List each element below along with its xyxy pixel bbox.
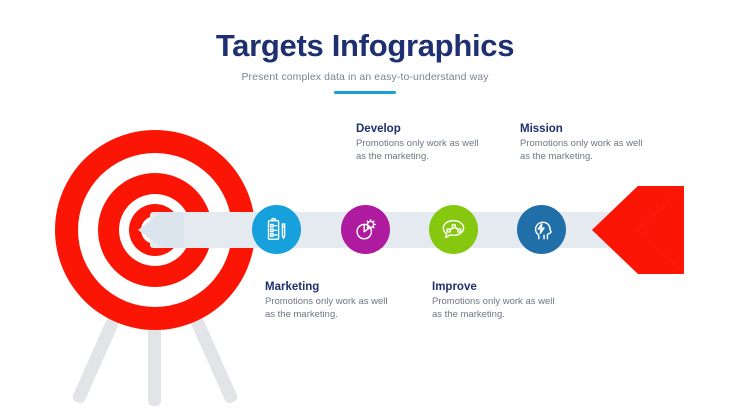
arrow-head-icon xyxy=(138,206,184,254)
arrow-shaft xyxy=(150,212,665,248)
info-block-marketing: Marketing Promotions only work as well a… xyxy=(265,281,389,322)
info-block-improve: Improve Promotions only work as well as … xyxy=(432,281,556,322)
gear-analysis-icon xyxy=(352,216,379,243)
chat-network-icon xyxy=(440,216,467,243)
info-body-improve: Promotions only work as well as the mark… xyxy=(432,295,556,322)
info-block-mission: Mission Promotions only work as well as … xyxy=(520,123,644,164)
target-stand-leg-center xyxy=(148,318,161,406)
info-title-mission: Mission xyxy=(520,123,644,135)
info-body-mission: Promotions only work as well as the mark… xyxy=(520,137,644,164)
target-stand-leg-left xyxy=(71,315,120,404)
step-icon-develop[interactable] xyxy=(341,205,390,254)
info-title-develop: Develop xyxy=(356,123,480,135)
head-lightning-icon xyxy=(528,216,555,243)
info-title-marketing: Marketing xyxy=(265,281,389,293)
step-icon-improve[interactable] xyxy=(429,205,478,254)
info-title-improve: Improve xyxy=(432,281,556,293)
accent-underline xyxy=(334,91,396,95)
arrow-fletching-icon xyxy=(592,186,684,274)
info-body-marketing: Promotions only work as well as the mark… xyxy=(265,295,389,322)
step-icon-marketing[interactable] xyxy=(252,205,301,254)
info-block-develop: Develop Promotions only work as well as … xyxy=(356,123,480,164)
info-body-develop: Promotions only work as well as the mark… xyxy=(356,137,480,164)
slide-canvas: Targets Infographics Present complex dat… xyxy=(0,0,730,411)
clipboard-pencil-icon xyxy=(263,216,290,243)
target-stand-leg-right xyxy=(190,315,239,404)
step-icon-mission[interactable] xyxy=(517,205,566,254)
